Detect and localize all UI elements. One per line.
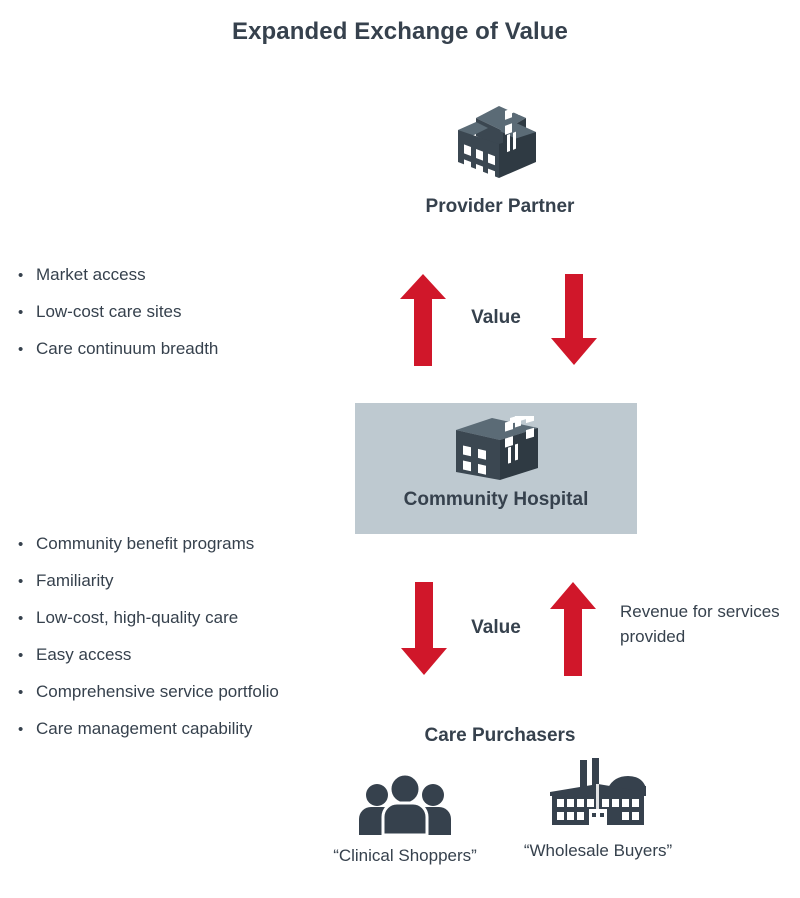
list-item-label: Care continuum breadth	[36, 338, 218, 360]
list-item: • Market access	[18, 264, 218, 287]
purchaser-label: “Clinical Shoppers”	[330, 843, 480, 868]
arrow-up-icon	[549, 582, 597, 681]
community-hospital-label: Community Hospital	[355, 489, 637, 511]
community-hospital-node: Community Hospital	[355, 403, 637, 534]
list-item: • Community benefit programs	[18, 533, 279, 556]
list-item-label: Familiarity	[36, 570, 113, 592]
bullet-glyph: •	[18, 534, 36, 556]
list-item-label: Community benefit programs	[36, 533, 254, 555]
purchaser-wholesale-buyers: “Wholesale Buyers”	[523, 758, 673, 863]
arrow-up-icon	[399, 274, 447, 371]
bullet-glyph: •	[18, 719, 36, 741]
provider-benefits-list: • Market access • Low-cost care sites • …	[18, 264, 218, 375]
list-item-label: Easy access	[36, 644, 131, 666]
list-item: • Familiarity	[18, 570, 279, 593]
list-item: • Low-cost, high-quality care	[18, 607, 279, 630]
revenue-note: Revenue for services provided	[620, 599, 792, 649]
bullet-glyph: •	[18, 339, 36, 361]
list-item-label: Comprehensive service portfolio	[36, 681, 279, 703]
value-label-top: Value	[446, 307, 546, 329]
page-title: Expanded Exchange of Value	[0, 18, 800, 46]
list-item-label: Market access	[36, 264, 146, 286]
hospital-building-icon	[380, 100, 620, 184]
people-group-icon	[330, 763, 480, 835]
list-item-label: Low-cost care sites	[36, 301, 182, 323]
purchaser-clinical-shoppers: “Clinical Shoppers”	[330, 763, 480, 868]
arrow-down-icon	[399, 582, 449, 681]
care-purchasers-title: Care Purchasers	[380, 725, 620, 747]
list-item: • Comprehensive service portfolio	[18, 681, 279, 704]
list-item-label: Care management capability	[36, 718, 252, 740]
list-item: • Care continuum breadth	[18, 338, 218, 361]
list-item: • Low-cost care sites	[18, 301, 218, 324]
arrow-down-icon	[549, 274, 599, 371]
hospital-building-icon	[355, 403, 637, 489]
list-item: • Care management capability	[18, 718, 279, 741]
provider-partner-label: Provider Partner	[380, 196, 620, 218]
list-item-label: Low-cost, high-quality care	[36, 607, 238, 629]
purchaser-benefits-list: • Community benefit programs • Familiari…	[18, 533, 279, 755]
bullet-glyph: •	[18, 608, 36, 630]
bullet-glyph: •	[18, 571, 36, 593]
bullet-glyph: •	[18, 302, 36, 324]
list-item: • Easy access	[18, 644, 279, 667]
purchaser-label: “Wholesale Buyers”	[523, 838, 673, 863]
bullet-glyph: •	[18, 645, 36, 667]
value-label-bottom: Value	[446, 617, 546, 639]
bullet-glyph: •	[18, 265, 36, 287]
factory-building-icon	[523, 758, 673, 830]
provider-partner-node: Provider Partner	[380, 100, 620, 218]
bullet-glyph: •	[18, 682, 36, 704]
